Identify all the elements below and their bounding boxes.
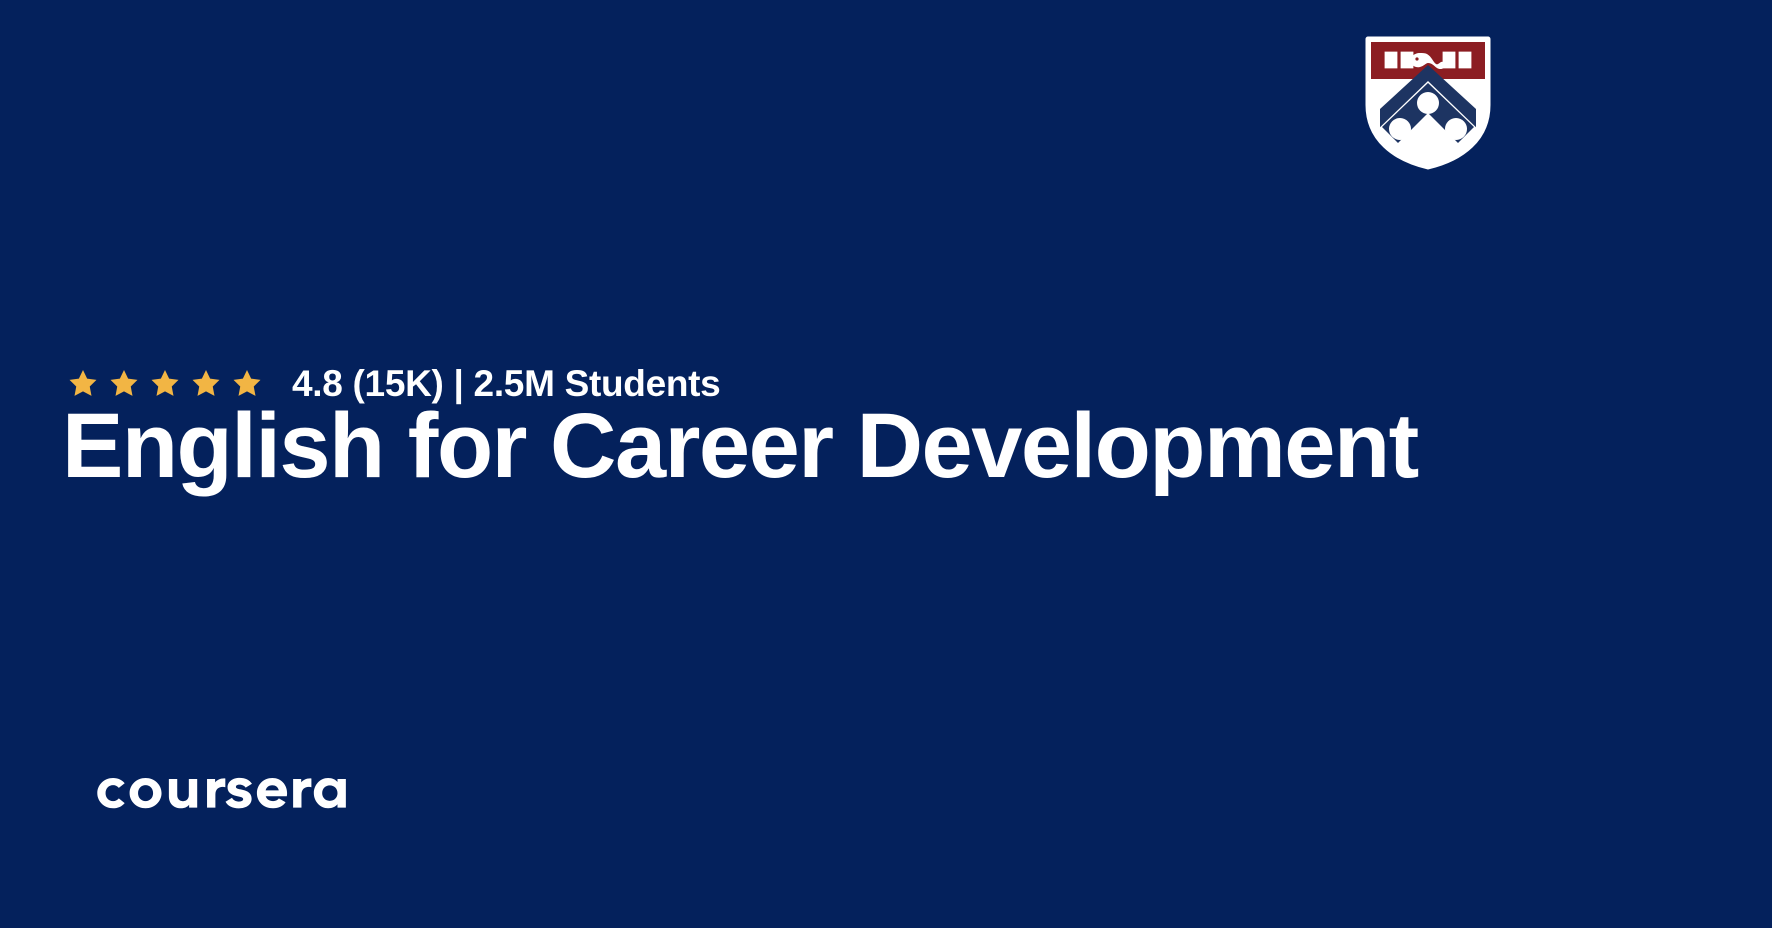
star-icon <box>109 368 139 398</box>
star-icon <box>232 368 262 398</box>
course-title: English for Career Development <box>62 395 1722 498</box>
star-rating <box>68 368 262 398</box>
coursera-logo <box>88 765 367 817</box>
star-icon <box>150 368 180 398</box>
course-promo-banner: 4.8 (15K) | 2.5M Students English for Ca… <box>0 0 1772 928</box>
star-icon <box>191 368 221 398</box>
university-of-pennsylvania-shield-logo <box>1364 35 1492 171</box>
star-icon <box>68 368 98 398</box>
